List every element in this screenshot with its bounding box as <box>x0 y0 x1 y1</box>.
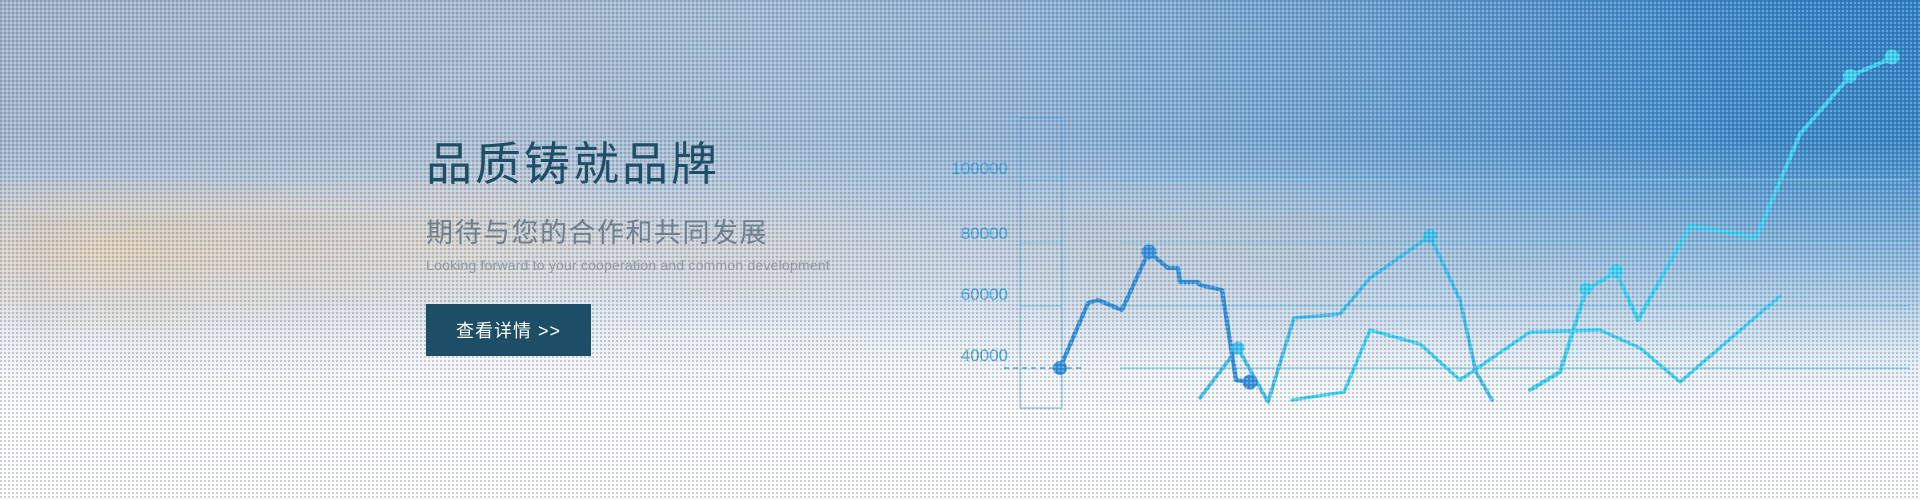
chart-marker <box>1053 361 1067 375</box>
subtitle-en: Looking forward to your cooperation and … <box>426 256 986 274</box>
page-title: 品质铸就品牌 <box>426 138 986 191</box>
chart-marker <box>1142 245 1157 260</box>
chart-data-markers <box>1053 50 1900 390</box>
view-details-button[interactable]: 查看详情 >> <box>426 304 591 356</box>
chart-marker <box>1243 375 1258 390</box>
chart-svg: 100000 80000 60000 40000 <box>900 0 1920 500</box>
chart-marker <box>1609 264 1623 278</box>
chart-line-series-2 <box>1200 236 1492 402</box>
chart-line-series-1 <box>1060 253 1250 382</box>
banner-copy: 品质铸就品牌 期待与您的合作和共同发展 Looking forward to y… <box>426 138 986 356</box>
hero-banner: 100000 80000 60000 40000 <box>0 0 1920 500</box>
subtitle-cn: 期待与您的合作和共同发展 <box>426 217 986 249</box>
growth-line-chart: 100000 80000 60000 40000 <box>900 0 1920 500</box>
gridlines <box>1020 180 1910 368</box>
chart-marker <box>1232 342 1245 355</box>
chart-line-series-3 <box>1530 58 1892 390</box>
chart-marker <box>1423 229 1437 243</box>
chart-marker <box>1580 283 1593 296</box>
chart-marker <box>1843 69 1857 83</box>
chart-marker <box>1885 50 1900 65</box>
